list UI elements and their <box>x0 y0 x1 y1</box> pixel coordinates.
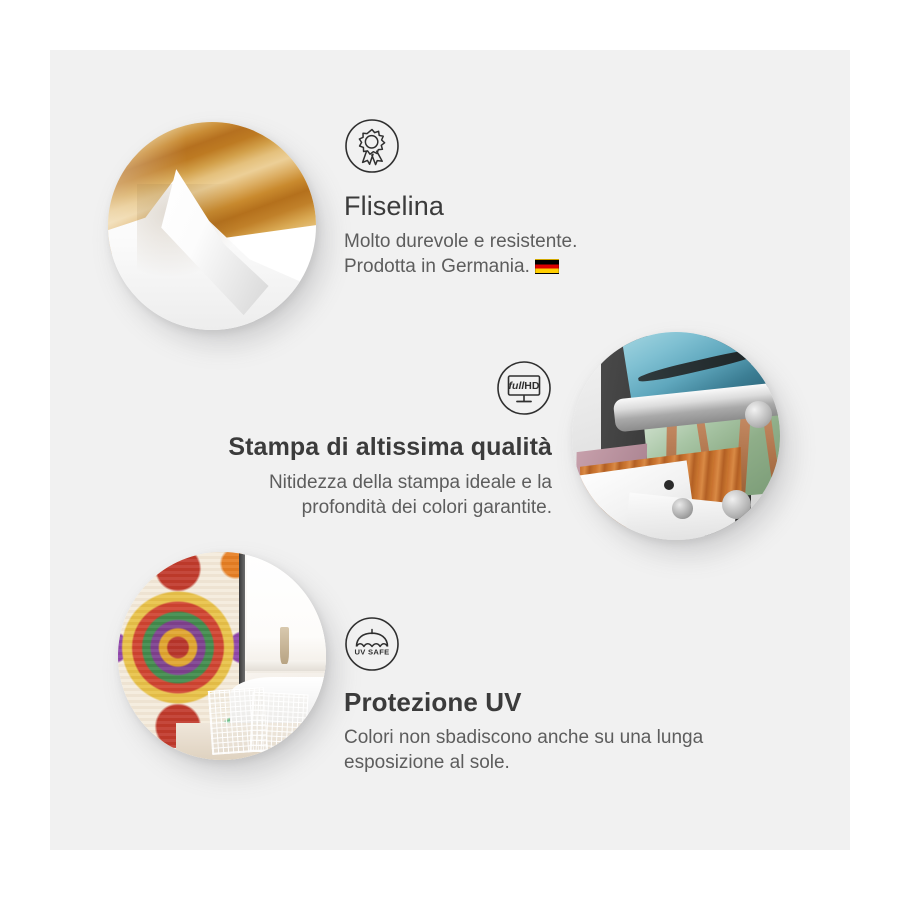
feature-body-uv: Colori non sbadiscono anche su una lunga… <box>344 725 744 776</box>
feature-body-line-2: Prodotta in Germania. <box>344 256 530 277</box>
feature-body-line-1: Nitidezza della stampa ideale e la <box>269 472 552 493</box>
feature-body-line-2: profondità dei colori garantite. <box>302 497 552 518</box>
feature-heading-quality: Stampa di altissima qualità <box>190 433 552 462</box>
fullhd-monitor-icon: fullHD <box>190 360 552 421</box>
candle-holder <box>280 627 288 664</box>
feature-block-uv: UV SAFE Protezione UV Colori non sbadisc… <box>344 616 744 776</box>
uv-safe-label: UV SAFE <box>354 648 389 657</box>
feature-body-line-2-wrap: Prodotta in Germania. <box>344 256 559 277</box>
wallpaper-peel-photo <box>108 122 316 330</box>
printer-lower-knob <box>722 490 751 519</box>
feature-body-quality: Nitidezza della stampa ideale e la profo… <box>190 470 552 521</box>
feature-block-quality: fullHD Stampa di altissima qualità Nitid… <box>190 360 552 521</box>
feature-body-line-1: Colori non sbadiscono anche su una lunga <box>344 727 703 748</box>
wallpaper-peel-photo-inner <box>108 122 316 330</box>
svg-text:fullHD: fullHD <box>509 380 540 392</box>
uv-safe-umbrella-icon: UV SAFE <box>344 616 744 677</box>
wire-chair-right <box>250 692 309 755</box>
product-feature-infographic: Fliselina Molto durevole e resistente. P… <box>0 0 900 900</box>
printer-photo-inner <box>572 332 780 540</box>
large-format-printer-photo <box>572 332 780 540</box>
feature-body-line-2: esposizione al sole. <box>344 752 510 773</box>
mandala-photo-inner <box>118 552 326 760</box>
feature-heading-fliselina: Fliselina <box>344 191 704 222</box>
award-rosette-icon <box>344 118 704 179</box>
feature-heading-uv: Protezione UV <box>344 687 744 718</box>
feature-body-fliselina: Molto durevole e resistente. Prodotta in… <box>344 229 704 280</box>
printer-roller-knob <box>745 401 772 428</box>
printer-lower-knob-small <box>672 498 693 519</box>
germany-flag-icon <box>535 259 559 274</box>
printer-bolt <box>664 480 674 490</box>
feature-body-line-1: Molto durevole e resistente. <box>344 231 577 252</box>
feature-block-fliselina: Fliselina Molto durevole e resistente. P… <box>344 118 704 280</box>
mandala-wallpaper-interior-photo <box>118 552 326 760</box>
